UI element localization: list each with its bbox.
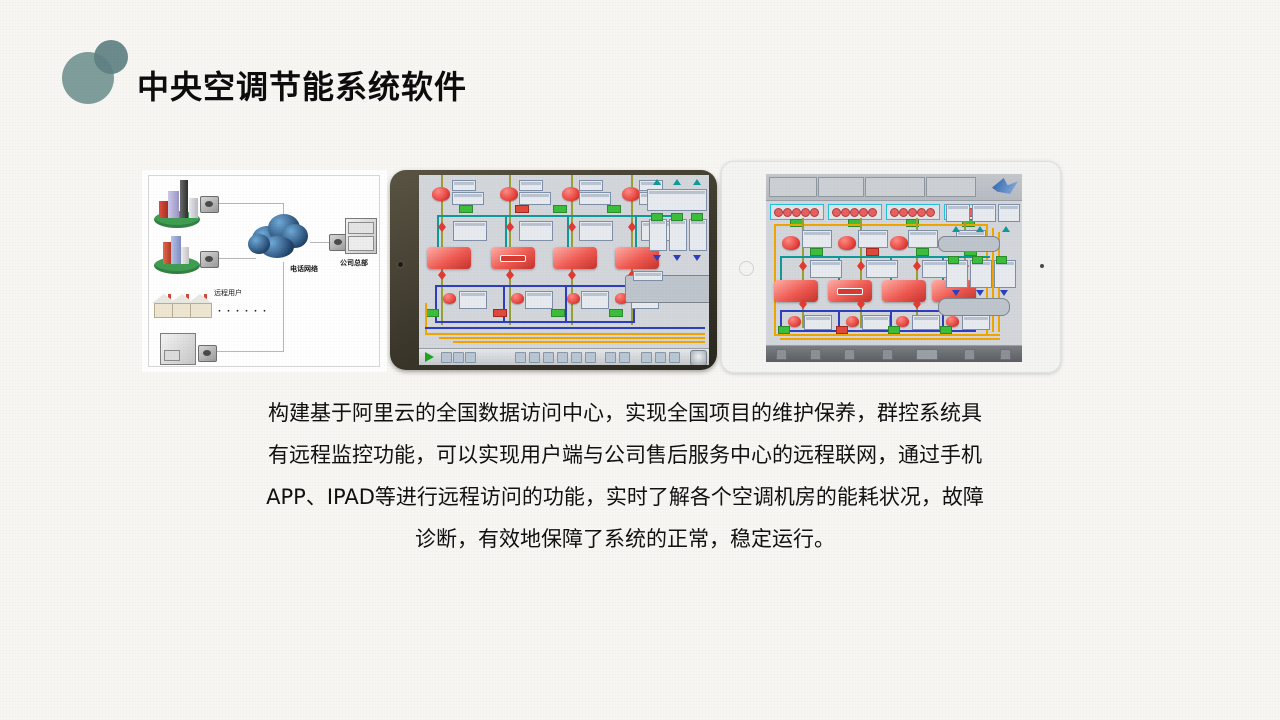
- back-icon[interactable]: [619, 352, 630, 363]
- cooling-pump-4[interactable]: [622, 187, 640, 201]
- flow-arrow-up-3: [693, 179, 701, 185]
- flow-arrow-up-2: [673, 179, 681, 185]
- blue-branch-3: [565, 285, 567, 323]
- ahu-arrow-up-1: [952, 226, 960, 232]
- data-box-b2: [525, 291, 553, 309]
- scada-header-bar: [766, 174, 1022, 201]
- tower-purple: [168, 191, 179, 218]
- summary-panel-top: [647, 189, 707, 211]
- orange-bottom-header-2: [780, 338, 1000, 340]
- tank-label-box: [633, 271, 663, 281]
- dark-tablet-hvac-screen: [390, 170, 717, 370]
- chilled-pump-3[interactable]: [567, 293, 580, 304]
- data-box-t2: [519, 180, 543, 191]
- cooling-pump-3[interactable]: [562, 187, 580, 201]
- flow-arrow-down-2: [673, 255, 681, 261]
- condenser-pump-3[interactable]: [890, 236, 908, 250]
- data-box-b1: [459, 291, 487, 309]
- hvac-scada-view[interactable]: [419, 175, 709, 365]
- modem-icon-2: [200, 251, 219, 268]
- ahu-arrow-up-3: [1002, 226, 1010, 232]
- data-box-m1: [453, 221, 487, 241]
- blue-bottom-main: [425, 327, 705, 329]
- chp-data-f2: [862, 315, 890, 330]
- chp-badge-f3: [888, 326, 900, 334]
- white-ipad-hvac-screen: [721, 161, 1061, 373]
- tower-blue: [171, 236, 181, 264]
- tower-red: [159, 201, 168, 218]
- label-remote-users: 远程用户: [214, 288, 242, 298]
- save-icon[interactable]: [453, 352, 464, 363]
- hvac-scada-view-full[interactable]: [766, 174, 1022, 362]
- house-icon-3: [188, 294, 212, 316]
- report-icon[interactable]: [571, 352, 582, 363]
- help-icon[interactable]: [669, 352, 680, 363]
- ahu-f-badge-2: [972, 256, 983, 264]
- ahu-f-col-3: [994, 260, 1016, 288]
- cp-badge-3: [916, 248, 929, 256]
- status-badge-6: [493, 309, 507, 317]
- water-tank-lower: [938, 298, 1010, 316]
- modem-icon-3: [198, 345, 217, 362]
- data-box-m3: [579, 221, 613, 241]
- company-logo-icon: [992, 178, 1018, 194]
- chiller-unit-1[interactable]: [427, 247, 471, 269]
- link-icon[interactable]: [844, 349, 855, 360]
- header-cell-4: [926, 177, 976, 197]
- data-box-m2: [519, 221, 553, 241]
- header-cell-3: [865, 177, 925, 197]
- scada-toolbar[interactable]: [419, 348, 709, 365]
- slide-caption: 构建基于阿里云的全国数据访问中心，实现全国项目的维护保养，群控系统具 有远程监控…: [205, 392, 1045, 560]
- node-building-highrise: [154, 180, 200, 228]
- chp-data-f1: [804, 315, 832, 330]
- ahu-arrow-up-2: [976, 226, 984, 232]
- cp-data-2: [858, 230, 888, 248]
- trend-icon[interactable]: [557, 352, 568, 363]
- blue-branch-1: [435, 285, 437, 323]
- data-box-t6: [519, 192, 551, 205]
- caption-line-4: 诊断，有效地保障了系统的正常，稳定运行。: [205, 518, 1045, 560]
- cooling-pump-2[interactable]: [500, 187, 518, 201]
- ahu-f-col-2: [970, 260, 992, 288]
- data-box-t1: [452, 180, 476, 191]
- cp-badge-1: [810, 248, 823, 256]
- chp-badge-f2: [836, 326, 848, 334]
- cooling-tower-group-2[interactable]: [828, 204, 882, 220]
- wire-vert-bottom: [283, 262, 284, 352]
- orange-header-3: [453, 341, 705, 343]
- house-body: [190, 303, 212, 318]
- ahu-panel-3: [689, 219, 707, 251]
- alarm-icon[interactable]: [543, 352, 554, 363]
- roof: [188, 294, 212, 303]
- chp-data-f4: [962, 315, 990, 330]
- orange-riser-left: [425, 303, 427, 335]
- flow-arrow-up-1: [653, 179, 661, 185]
- data-box-t5: [452, 192, 484, 205]
- node-workstation: [160, 333, 196, 365]
- remote-access-network-diagram: 电话网络 远程用户 ・・・・・・ 公司总部: [142, 170, 387, 372]
- tower-orange: [163, 242, 171, 264]
- chiller-f1[interactable]: [774, 280, 818, 302]
- label-telephone-network: 电话网络: [290, 264, 318, 274]
- cooling-tower-group-1[interactable]: [770, 204, 824, 220]
- status-badge-7: [551, 309, 565, 317]
- cp-data-1: [802, 230, 832, 248]
- chiller-unit-3[interactable]: [553, 247, 597, 269]
- orange-header-1: [425, 333, 705, 335]
- water-tank-upper: [938, 236, 1000, 252]
- tools-icon[interactable]: [882, 349, 893, 360]
- valve-data-2: [866, 260, 898, 278]
- orange-header-2: [439, 337, 705, 339]
- status-badge-8: [609, 309, 623, 317]
- status-badge-2: [515, 205, 529, 213]
- condenser-pump-2[interactable]: [838, 236, 856, 250]
- play-icon[interactable]: [425, 352, 434, 362]
- pan-icon[interactable]: [529, 352, 540, 363]
- cooling-pump-1[interactable]: [432, 187, 450, 201]
- ipad-camera-icon: [1040, 264, 1044, 268]
- cooling-tower-group-3[interactable]: [886, 204, 940, 220]
- tower-white: [189, 198, 198, 218]
- ahu-f-top-3: [998, 204, 1020, 222]
- caption-line-2: 有远程监控功能，可以实现用户端与公司售后服务中心的远程联网，通过手机: [205, 434, 1045, 476]
- exit-icon[interactable]: [690, 350, 707, 365]
- blue-branch-2: [503, 285, 505, 323]
- chilled-pump-2[interactable]: [511, 293, 524, 304]
- tower-dark: [180, 180, 188, 218]
- chp-badge-f1: [778, 326, 790, 334]
- chp-badge-f4: [940, 326, 952, 334]
- dark-tablet-screen[interactable]: [419, 175, 709, 365]
- header-cell-2: [818, 177, 864, 197]
- forward-icon[interactable]: [605, 352, 616, 363]
- chilled-pump-1[interactable]: [443, 293, 456, 304]
- node-cloud: [248, 208, 310, 260]
- gear-icon[interactable]: [964, 349, 975, 360]
- blue-return-header: [435, 321, 635, 323]
- ipad-home-button[interactable]: [739, 261, 754, 276]
- flow-arrow-down-1: [653, 255, 661, 261]
- zoom-icon[interactable]: [515, 352, 526, 363]
- node-server-rack: [345, 218, 377, 254]
- cp-data-3: [908, 230, 938, 248]
- close-icon[interactable]: [776, 349, 787, 360]
- data-box-b3: [581, 291, 609, 309]
- print-icon[interactable]: [465, 352, 476, 363]
- share-icon[interactable]: [1000, 349, 1011, 360]
- ipad-screen[interactable]: [766, 174, 1022, 362]
- modem-icon-1: [200, 196, 219, 213]
- node-building-office: [154, 232, 200, 274]
- valve-data-1: [810, 260, 842, 278]
- data-box-t3: [579, 180, 603, 191]
- ahu-f-badge-3: [996, 256, 1007, 264]
- chiller-f2[interactable]: [828, 280, 872, 302]
- ahu-f-badge-1: [948, 256, 959, 264]
- ahu-arrow-down-1: [952, 290, 960, 296]
- figure-row: 电话网络 远程用户 ・・・・・・ 公司总部: [0, 0, 1280, 720]
- ahu-badge-1: [651, 213, 663, 221]
- cp-badge-2: [866, 248, 879, 256]
- status-badge-3: [553, 205, 567, 213]
- data-box-t7: [579, 192, 611, 205]
- table-icon[interactable]: [655, 352, 666, 363]
- teal-main-header: [437, 215, 637, 217]
- status-badge-1: [459, 205, 473, 213]
- caption-line-1: 构建基于阿里云的全国数据访问中心，实现全国项目的维护保养，群控系统具: [205, 392, 1045, 434]
- ahu-f-col-1: [946, 260, 968, 288]
- ahu-arrow-down-3: [1000, 290, 1008, 296]
- settings-icon[interactable]: [810, 349, 821, 360]
- ahu-panel-2: [669, 219, 687, 251]
- chiller-unit-2[interactable]: [491, 247, 535, 269]
- cloud-puff-5: [248, 234, 270, 254]
- chart-icon[interactable]: [641, 352, 652, 363]
- chp-data-f3: [912, 315, 940, 330]
- keyboard-icon[interactable]: [916, 349, 938, 360]
- refresh-icon[interactable]: [585, 352, 596, 363]
- ahu-f-top-1: [946, 204, 970, 222]
- caption-line-3: APP、IPAD等进行远程访问的功能，实时了解各个空调机房的能耗状况，故障: [205, 476, 1045, 518]
- orange-bottom-header: [774, 334, 1000, 336]
- wire-workstation: [206, 351, 284, 352]
- ahu-f-top-2: [972, 204, 996, 222]
- ahu-panel-1: [649, 219, 667, 251]
- ipad-scada-toolbar[interactable]: [766, 345, 1022, 362]
- ahu-badge-2: [671, 213, 683, 221]
- ahu-arrow-down-2: [976, 290, 984, 296]
- label-ellipsis: ・・・・・・: [216, 306, 270, 316]
- teal-header-full: [780, 256, 968, 258]
- status-badge-4: [607, 205, 621, 213]
- label-headquarters: 公司总部: [340, 258, 368, 268]
- condenser-pump-1[interactable]: [782, 236, 800, 250]
- ahu-badge-3: [691, 213, 703, 221]
- tablet-camera-icon: [398, 262, 403, 267]
- blue-main-header: [435, 285, 635, 287]
- status-badge-5: [425, 309, 439, 317]
- flow-arrow-down-3: [693, 255, 701, 261]
- open-icon[interactable]: [441, 352, 452, 363]
- tower-grey: [181, 247, 189, 264]
- header-cell-1: [769, 177, 817, 197]
